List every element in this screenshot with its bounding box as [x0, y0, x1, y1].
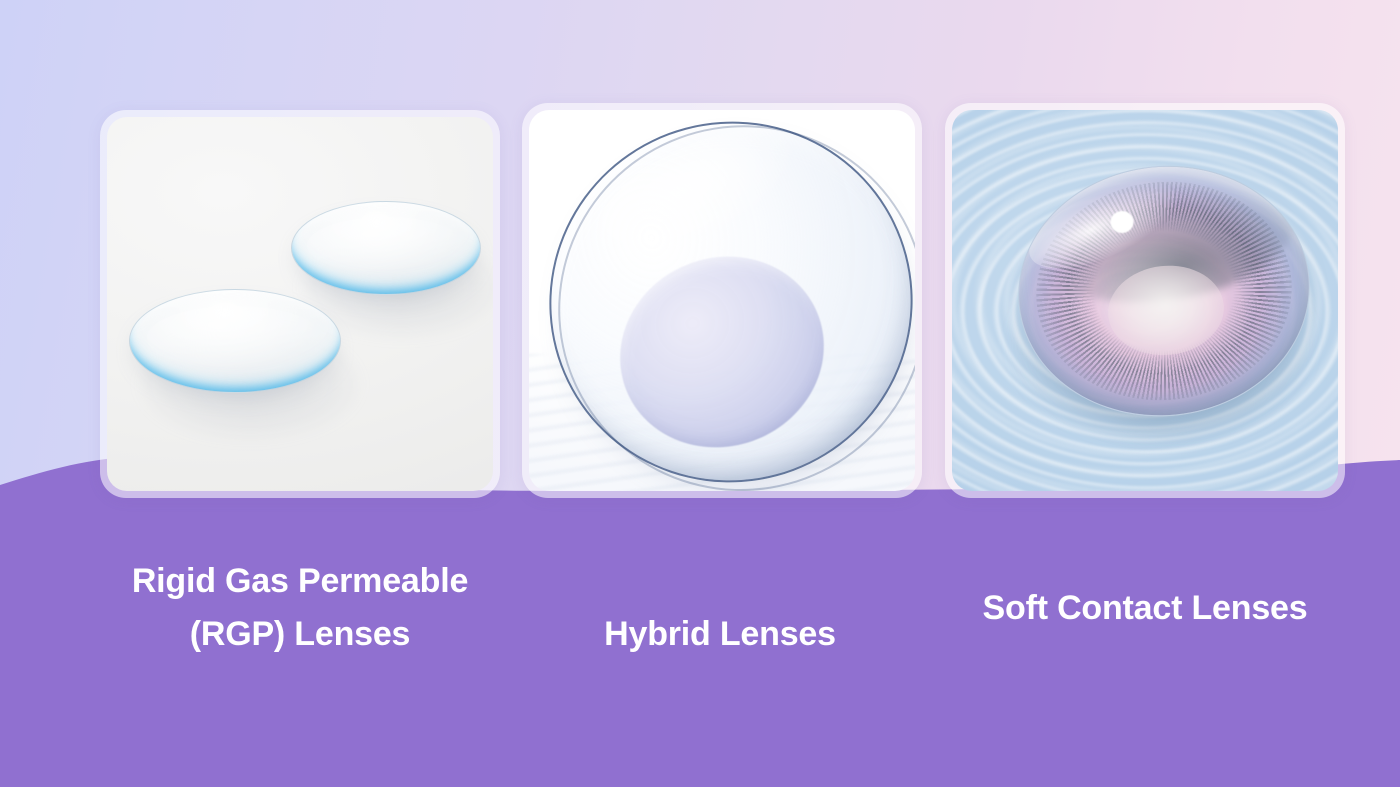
rgp-lens-back	[291, 201, 481, 295]
caption-row: Rigid Gas Permeable (RGP) Lenses Hybrid …	[0, 520, 1400, 787]
lens-card-soft-image	[952, 110, 1338, 491]
lens-card-rgp[interactable]	[100, 110, 500, 498]
rgp-scene	[107, 117, 493, 491]
water-scene	[952, 110, 1338, 491]
caption-hybrid: Hybrid Lenses	[540, 608, 900, 661]
lens-card-row	[0, 0, 1400, 520]
lens-card-rgp-image	[107, 117, 493, 491]
caption-rgp: Rigid Gas Permeable (RGP) Lenses	[120, 555, 480, 661]
lens-card-hybrid-image	[529, 110, 915, 491]
hybrid-scene	[529, 110, 915, 491]
lens-card-soft[interactable]	[945, 103, 1345, 498]
lens-card-hybrid[interactable]	[522, 103, 922, 498]
rgp-lens-front	[129, 289, 341, 393]
caption-soft: Soft Contact Lenses	[965, 582, 1325, 635]
slide-canvas: Rigid Gas Permeable (RGP) Lenses Hybrid …	[0, 0, 1400, 787]
